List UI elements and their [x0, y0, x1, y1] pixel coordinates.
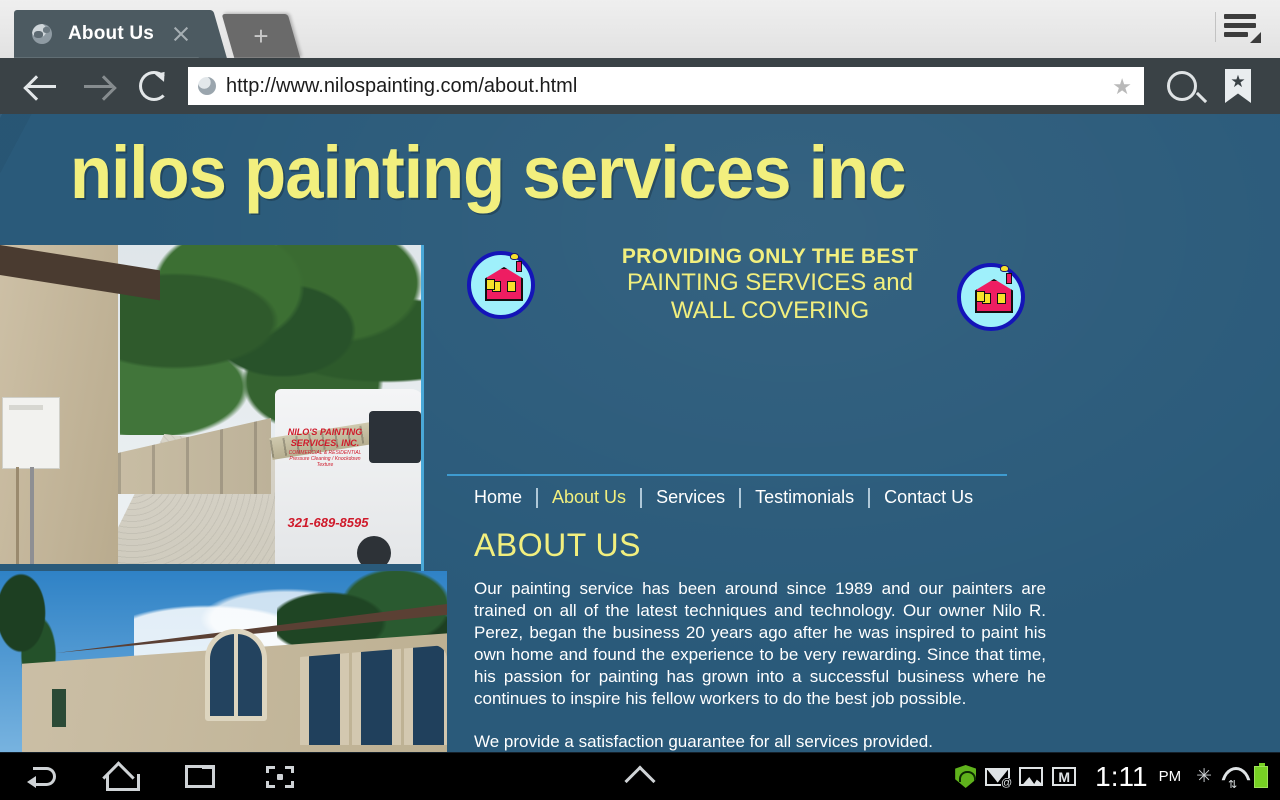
site-navigation: Home About Us Services Testimonials Cont…: [447, 474, 1007, 508]
back-arrow-icon: [27, 74, 57, 98]
clock-ampm: PM: [1159, 768, 1182, 785]
gmail-icon: M: [1052, 767, 1076, 786]
paragraph-1: Our painting service has been around sin…: [474, 578, 1046, 710]
chimney-shape: [1006, 273, 1012, 284]
email-icon: [985, 768, 1010, 786]
house-badge-icon-left: [467, 251, 535, 319]
van-line-4: Pressure Cleaning / Knockdown Texture: [281, 456, 369, 469]
house-badge-icon-right: [957, 263, 1025, 331]
screenshot-icon: [266, 766, 294, 788]
chimney-shape: [516, 261, 522, 272]
back-icon: [25, 767, 55, 787]
plus-icon: +: [228, 14, 294, 58]
system-recents-button[interactable]: [160, 753, 240, 800]
nav-divider: [868, 488, 870, 508]
bookmarks-flag-icon: ★: [1225, 69, 1251, 103]
photo-van-window: [369, 411, 421, 463]
photo-water-heater: [2, 397, 60, 469]
photo-driveway-van: NILO'S PAINTING SERVICES, INC. COMMERCIA…: [0, 245, 421, 564]
site-logo: nilos painting services inc: [70, 130, 905, 215]
van-line-1: NILO'S PAINTING: [281, 427, 369, 438]
door-shape: [976, 291, 985, 302]
reload-icon: [139, 71, 169, 101]
about-body: Our painting service has been around sin…: [474, 578, 1046, 752]
new-tab-button[interactable]: +: [222, 14, 301, 58]
divider: [1215, 12, 1216, 42]
chevron-up-icon: [624, 765, 655, 796]
photo-small-window: [52, 689, 66, 727]
van-phone: 321-689-8595: [281, 515, 375, 530]
tagline-line-2: PAINTING SERVICES and: [605, 269, 935, 297]
recent-apps-icon: [185, 766, 215, 788]
photo-column: NILO'S PAINTING SERVICES, INC. COMMERCIA…: [0, 245, 424, 752]
nav-divider: [536, 488, 538, 508]
lookout-shield-icon: [955, 765, 976, 788]
system-back-button[interactable]: [0, 753, 80, 800]
system-screenshot-button[interactable]: [240, 753, 320, 800]
search-icon: [1167, 71, 1197, 101]
bookmark-star-glyph: ★: [1230, 73, 1245, 90]
back-button[interactable]: [14, 58, 70, 114]
door-shape: [486, 279, 495, 290]
hamburger-menu-icon[interactable]: [1224, 10, 1262, 44]
tagline-row: PROVIDING ONLY THE BEST PAINTING SERVICE…: [467, 245, 1047, 325]
clock-time: 1:11: [1095, 763, 1147, 791]
address-input[interactable]: http://www.nilospainting.com/about.html …: [188, 67, 1144, 105]
page-favicon-icon: [198, 77, 216, 95]
tagline-line-3: WALL COVERING: [605, 297, 935, 325]
battery-full-icon: [1254, 766, 1268, 788]
globe-icon: [32, 24, 52, 44]
bluetooth-icon: ✳: [1196, 767, 1212, 786]
photo-arched-building: [0, 571, 447, 752]
search-button[interactable]: [1154, 58, 1210, 114]
photo-van-wheel: [357, 536, 391, 564]
web-page: nilos painting services inc NILO'S PAINT…: [0, 114, 1280, 752]
paragraph-2: We provide a satisfaction guarantee for …: [474, 731, 1046, 752]
tagline-line-1: PROVIDING ONLY THE BEST: [605, 245, 935, 269]
van-line-3: COMMERCIAL & RESIDENTIAL: [281, 450, 369, 456]
nav-item-services[interactable]: Services: [642, 487, 739, 508]
van-line-2: SERVICES, INC.: [281, 438, 369, 449]
tagline: PROVIDING ONLY THE BEST PAINTING SERVICE…: [605, 245, 935, 325]
system-navigation-bar: M 1:11 PM ✳: [0, 752, 1280, 800]
van-lettering: NILO'S PAINTING SERVICES, INC. COMMERCIA…: [281, 427, 369, 468]
system-home-button[interactable]: [80, 753, 160, 800]
photo-arched-window: [205, 629, 267, 721]
page-title: ABOUT US: [474, 527, 641, 564]
tab-strip: About Us +: [0, 0, 1280, 58]
content-column: PROVIDING ONLY THE BEST PAINTING SERVICE…: [447, 245, 1280, 752]
nav-divider: [640, 488, 642, 508]
nav-item-about-us[interactable]: About Us: [538, 487, 640, 508]
image-icon: [1019, 767, 1043, 786]
wifi-icon: [1221, 767, 1245, 786]
forward-arrow-icon: [83, 74, 113, 98]
bird-icon: [510, 253, 519, 260]
browser-window: About Us + http://www.nilospainting.com/…: [0, 0, 1280, 752]
home-icon: [106, 766, 134, 788]
tab-title: About Us: [68, 23, 154, 45]
photo-pipes: [10, 467, 58, 564]
nav-divider: [739, 488, 741, 508]
photo-arcade-arches: [300, 645, 447, 745]
reload-button[interactable]: [126, 58, 182, 114]
bookmark-star-icon[interactable]: ★: [1112, 76, 1132, 98]
url-text: http://www.nilospainting.com/about.html: [226, 75, 577, 98]
nav-item-contact-us[interactable]: Contact Us: [870, 487, 987, 508]
nav-item-home[interactable]: Home: [447, 487, 536, 508]
url-bar: http://www.nilospainting.com/about.html …: [0, 58, 1280, 114]
bird-icon: [1000, 265, 1009, 272]
close-icon[interactable]: [170, 23, 192, 45]
forward-button[interactable]: [70, 58, 126, 114]
nav-item-testimonials[interactable]: Testimonials: [741, 487, 868, 508]
tab-about-us[interactable]: About Us: [14, 10, 206, 58]
bookmarks-button[interactable]: ★: [1210, 58, 1266, 114]
photo-company-van: NILO'S PAINTING SERVICES, INC. COMMERCIA…: [275, 389, 421, 564]
expand-status-button[interactable]: [620, 753, 660, 800]
status-tray[interactable]: M 1:11 PM ✳: [955, 763, 1280, 791]
